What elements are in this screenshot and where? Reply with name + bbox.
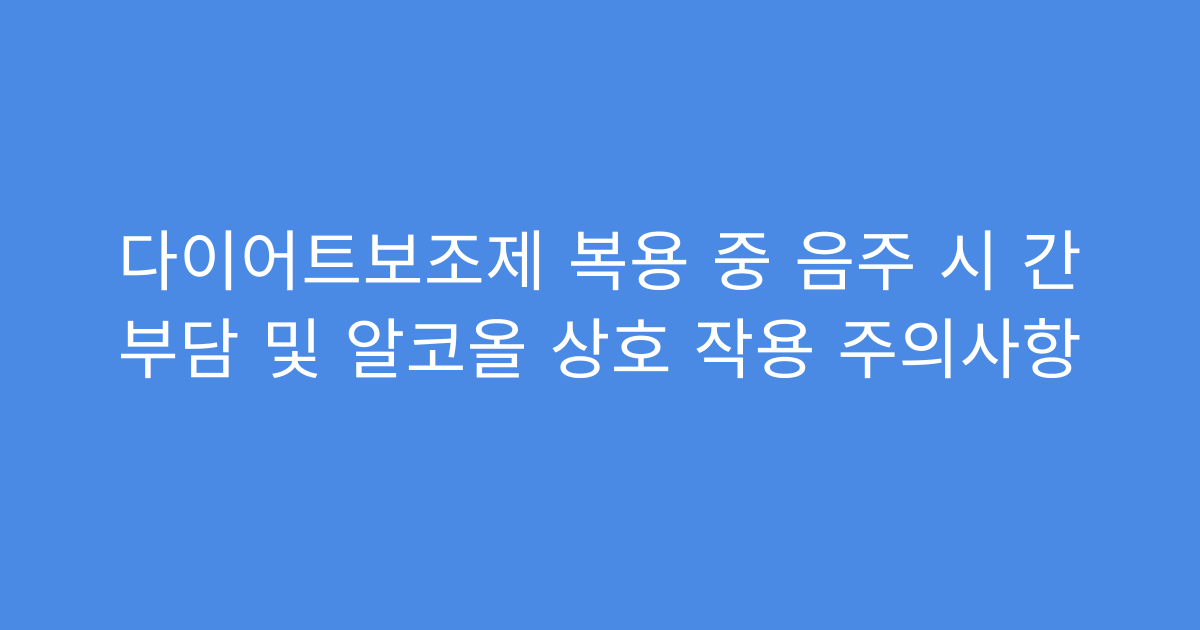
- page-title: 다이어트보조제 복용 중 음주 시 간 부담 및 알코올 상호 작용 주의사항: [65, 219, 1135, 395]
- title-card: 다이어트보조제 복용 중 음주 시 간 부담 및 알코올 상호 작용 주의사항: [0, 0, 1200, 630]
- title-line-2: 부담 및 알코올 상호 작용 주의사항: [65, 307, 1135, 395]
- title-line-1: 다이어트보조제 복용 중 음주 시 간: [65, 219, 1135, 307]
